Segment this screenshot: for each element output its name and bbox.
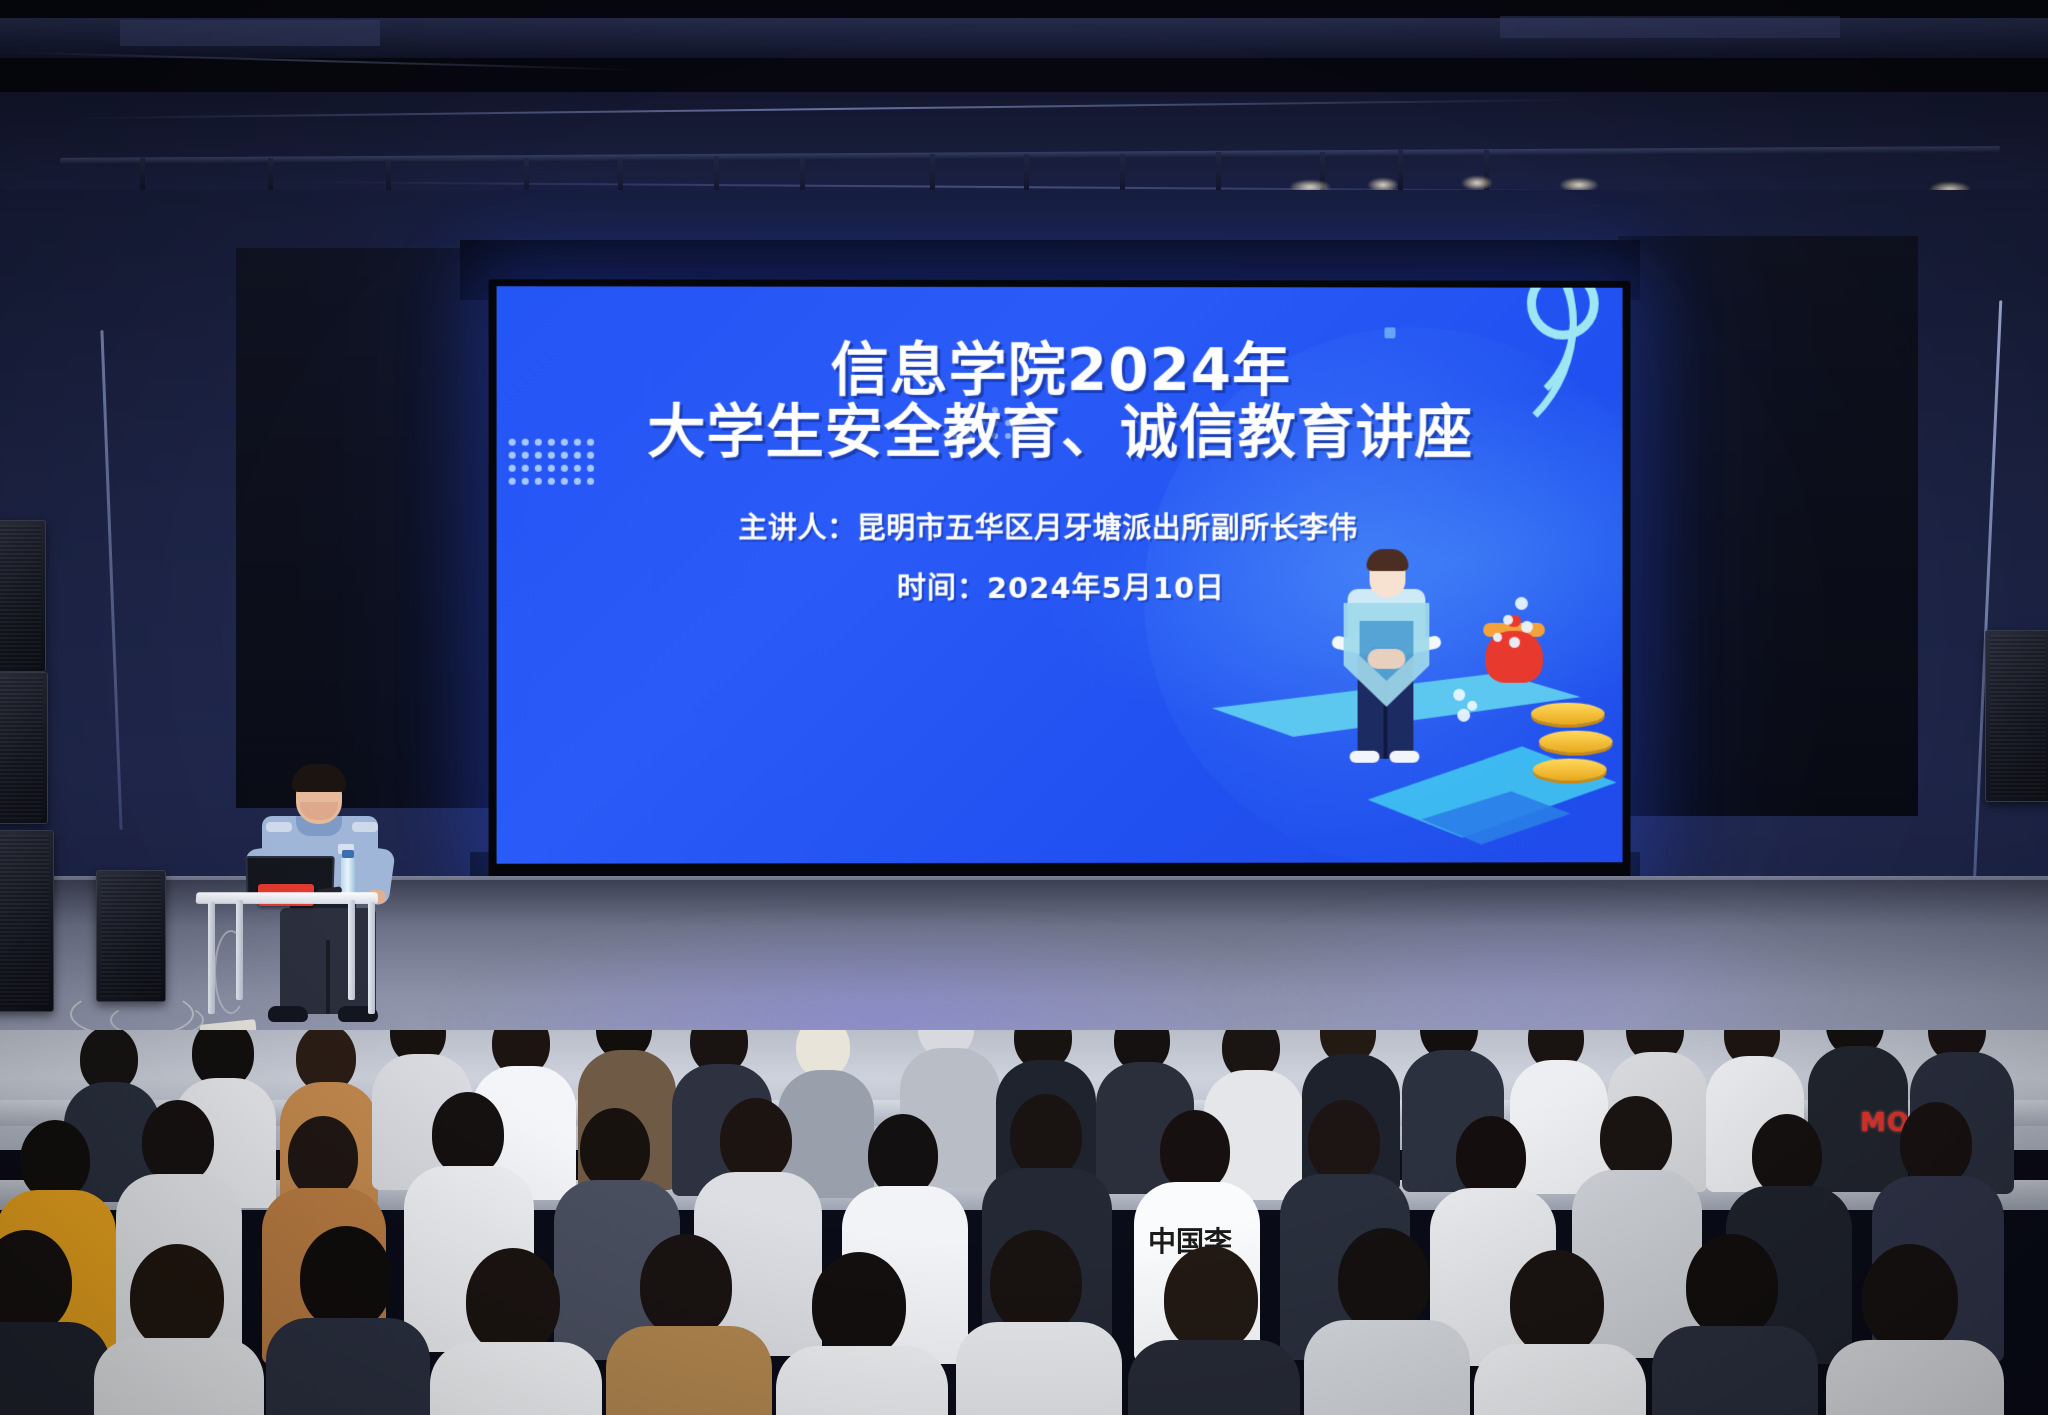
slide-title-line2: 大学生安全教育、诚信教育讲座 [647,385,1473,470]
shoe [268,1006,308,1022]
epaulet [352,822,378,832]
stage-light-glow [1462,176,1492,190]
led-presentation-screen[interactable]: 信息学院2024年 大学生安全教育、诚信教育讲座 主讲人：昆明市五华区月牙塘派出… [489,279,1631,881]
presenter-hair [292,764,346,792]
bottle-cap [342,850,354,858]
slide-speaker-line: 主讲人：昆明市五华区月牙塘派出所副所长李伟 [738,505,1358,547]
subwoofer-cabinet [0,830,54,1012]
auditorium-scene: 信息学院2024年 大学生安全教育、诚信教育讲座 主讲人：昆明市五华区月牙塘派出… [0,0,2048,1415]
audience-area: MOB [0,1030,2048,1415]
table-leg [368,902,375,1014]
loudspeaker-cabinet [0,672,48,824]
slide-date-line: 时间：2024年5月10日 [897,565,1225,607]
wall-panel-right [1618,236,1918,816]
table-leg [348,900,355,1000]
slide-text-block: 信息学院2024年 大学生安全教育、诚信教育讲座 主讲人：昆明市五华区月牙塘派出… [497,286,1623,863]
loudspeaker-cabinet [96,870,166,1002]
epaulet [266,822,292,832]
power-cable [214,930,248,1014]
loudspeaker-cabinet [1985,630,2048,802]
slide-surface: 信息学院2024年 大学生安全教育、诚信教育讲座 主讲人：昆明市五华区月牙塘派出… [497,286,1623,863]
loudspeaker-cabinet [0,520,46,672]
wall-panel-left [236,248,506,808]
